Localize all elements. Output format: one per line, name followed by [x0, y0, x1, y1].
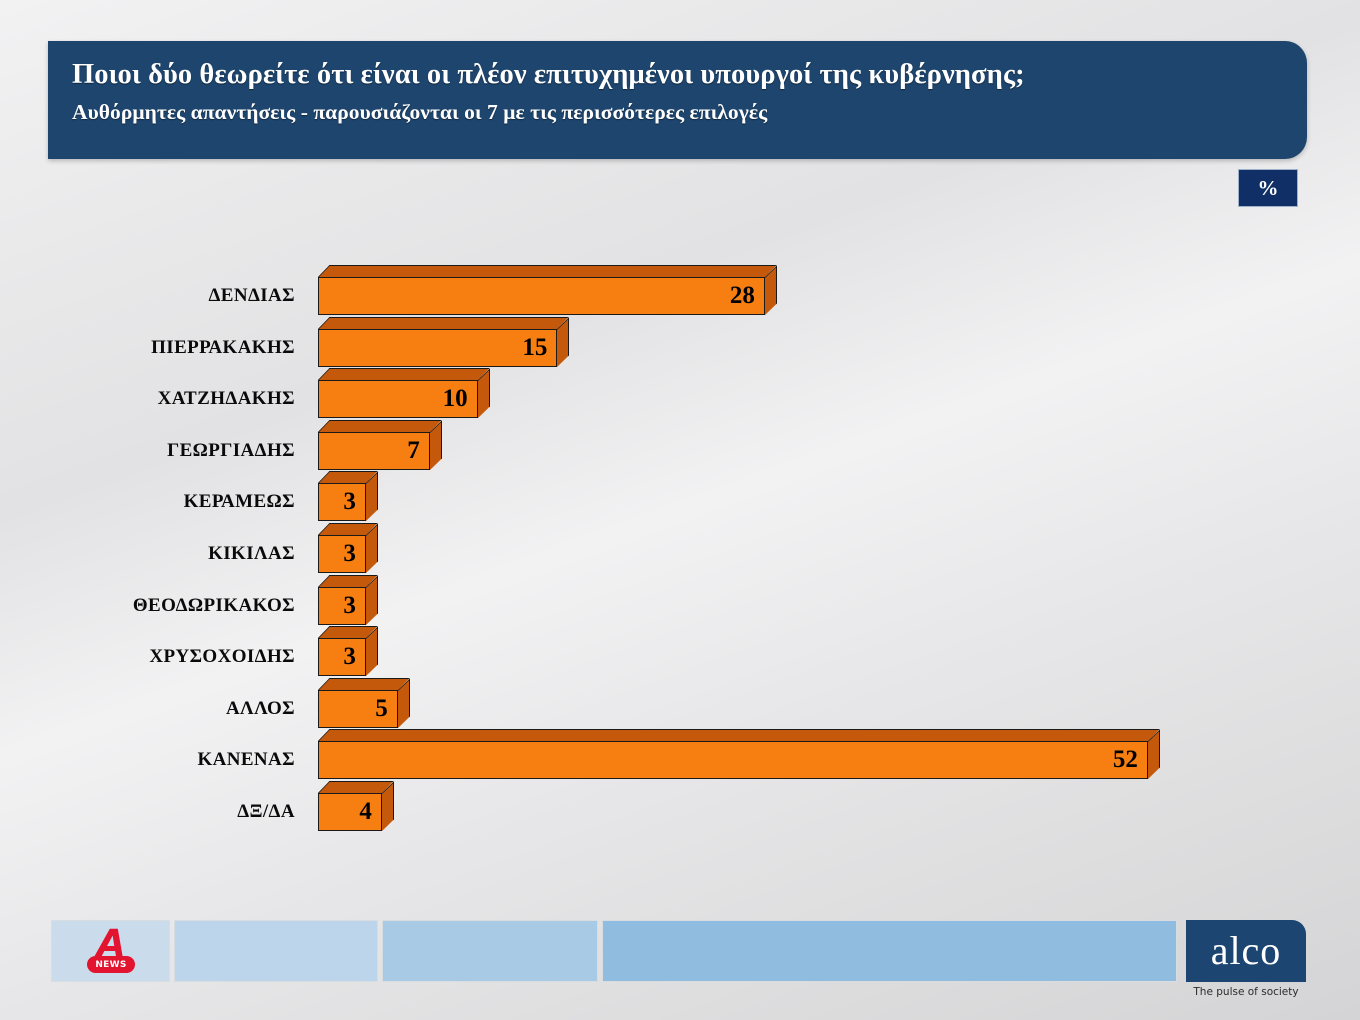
slide-canvas: Ποιοι δύο θεωρείτε ότι είναι οι πλέον επ…: [0, 0, 1360, 1020]
bar-row: ΠΙΕΡΡΑΚΑΚΗΣ15: [0, 317, 1360, 369]
ant1-news-logo: A NEWS: [51, 920, 170, 982]
bar-value-label: 4: [318, 793, 372, 831]
bar-value-label: 3: [318, 638, 356, 676]
bar-value-label: 3: [318, 535, 356, 573]
bar-value-label: 28: [318, 277, 755, 315]
alco-tagline: The pulse of society: [1186, 986, 1306, 998]
bar-3d: 52: [318, 729, 1160, 779]
footer-segment-2: [174, 920, 378, 982]
bar-row: ΧΑΤΖΗΔΑΚΗΣ10: [0, 368, 1360, 420]
bar-category-label: ΚΙΚΙΛΑΣ: [60, 543, 295, 565]
bar-3d: 10: [318, 368, 490, 418]
bar-value-label: 5: [318, 690, 388, 728]
footer-segment-4: [602, 920, 1177, 982]
bar-value-label: 52: [318, 741, 1138, 779]
bar-category-label: ΚΕΡΑΜΕΩΣ: [60, 491, 295, 513]
bar-row: ΧΡΥΣΟΧΟΙΔΗΣ3: [0, 626, 1360, 678]
bar-value-label: 15: [318, 329, 547, 367]
bar-category-label: ΑΛΛΟΣ: [60, 698, 295, 720]
bar-3d: 4: [318, 781, 394, 831]
bar-value-label: 7: [318, 432, 420, 470]
bar-value-label: 3: [318, 587, 356, 625]
bar-row: ΔΞ/ΔΑ4: [0, 781, 1360, 833]
bar-top-face: [318, 420, 441, 432]
bar-category-label: ΧΡΥΣΟΧΟΙΔΗΣ: [60, 646, 295, 668]
bar-top-face: [318, 729, 1159, 741]
footer-segment-3: [382, 920, 598, 982]
bar-row: ΘΕΟΔΩΡΙΚΑΚΟΣ3: [0, 575, 1360, 627]
bar-3d: 3: [318, 575, 378, 625]
bar-category-label: ΠΙΕΡΡΑΚΑΚΗΣ: [60, 337, 295, 359]
bar-row: ΑΛΛΟΣ5: [0, 678, 1360, 730]
slide-footer: A NEWS alco The pulse of society: [0, 920, 1360, 1020]
bar-3d: 3: [318, 471, 378, 521]
alco-wordmark: alco: [1186, 920, 1306, 982]
ant1-news-pill: NEWS: [87, 956, 135, 973]
bar-top-face: [318, 368, 489, 380]
bar-value-label: 3: [318, 483, 356, 521]
bar-3d: 15: [318, 317, 569, 367]
bar-row: ΚΕΡΑΜΕΩΣ3: [0, 471, 1360, 523]
bar-row: ΚΙΚΙΛΑΣ3: [0, 523, 1360, 575]
bar-category-label: ΓΕΩΡΓΙΑΔΗΣ: [60, 440, 295, 462]
bar-3d: 7: [318, 420, 442, 470]
alco-logo: alco: [1186, 920, 1306, 982]
bar-value-label: 10: [318, 380, 468, 418]
bar-3d: 3: [318, 626, 378, 676]
bar-top-face: [318, 317, 569, 329]
bar-3d: 5: [318, 678, 410, 728]
bar-row: ΔΕΝΔΙΑΣ28: [0, 265, 1360, 317]
bar-category-label: ΔΕΝΔΙΑΣ: [60, 285, 295, 307]
bar-category-label: ΔΞ/ΔΑ: [60, 801, 295, 823]
bar-category-label: ΚΑΝΕΝΑΣ: [60, 749, 295, 771]
bar-category-label: ΘΕΟΔΩΡΙΚΑΚΟΣ: [60, 595, 295, 617]
bar-category-label: ΧΑΤΖΗΔΑΚΗΣ: [60, 388, 295, 410]
bar-top-face: [318, 265, 776, 277]
bar-chart-plot-area: ΔΕΝΔΙΑΣ28ΠΙΕΡΡΑΚΑΚΗΣ15ΧΑΤΖΗΔΑΚΗΣ10ΓΕΩΡΓΙ…: [0, 0, 1360, 900]
bar-row: ΓΕΩΡΓΙΑΔΗΣ7: [0, 420, 1360, 472]
bar-top-face: [318, 678, 409, 690]
bar-row: ΚΑΝΕΝΑΣ52: [0, 729, 1360, 781]
bar-3d: 3: [318, 523, 378, 573]
bar-3d: 28: [318, 265, 777, 315]
